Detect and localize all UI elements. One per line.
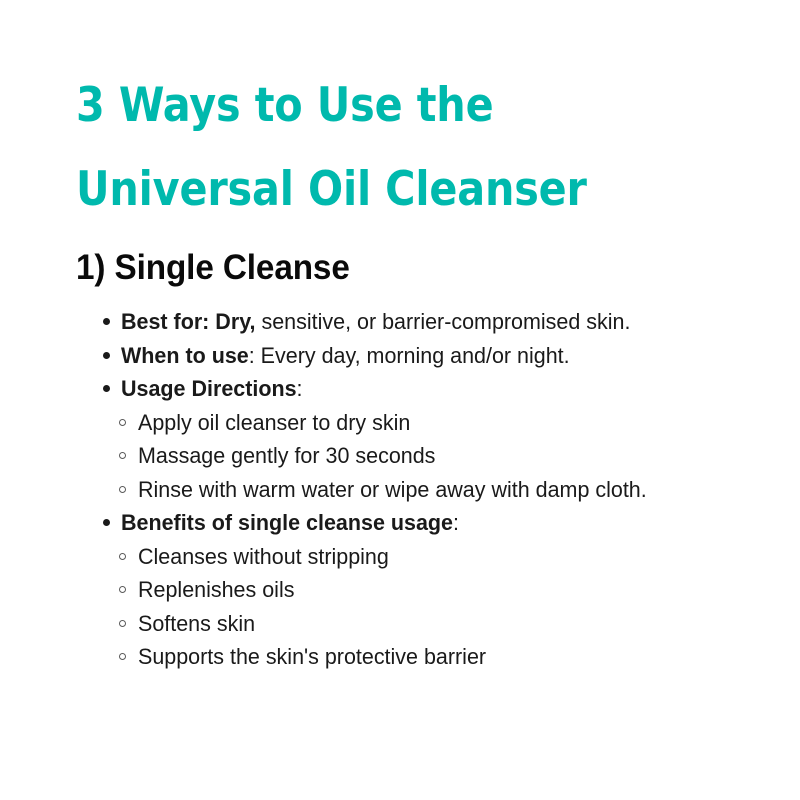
bullet-circle-icon: [119, 653, 126, 660]
list-item: When to use: Every day, morning and/or n…: [97, 339, 697, 373]
sub-list-item: Replenishes oils: [97, 573, 697, 607]
section-heading: 1) Single Cleanse: [76, 246, 350, 290]
list-item-lead: When to use: [121, 343, 249, 368]
sub-list-item-text: Supports the skin's protective barrier: [138, 640, 696, 674]
sub-list-item: Supports the skin's protective barrier: [97, 640, 697, 674]
sub-list: Apply oil cleanser to dry skinMassage ge…: [97, 406, 697, 507]
sub-list-item-text: Cleanses without stripping: [138, 540, 696, 574]
sub-list-item-text: Rinse with warm water or wipe away with …: [138, 473, 696, 507]
list-item-text: Best for: Dry, sensitive, or barrier-com…: [121, 305, 696, 339]
page-title: 3 Ways to Use the Universal Oil Cleanser: [76, 64, 736, 232]
list-item-text: Benefits of single cleanse usage:: [121, 506, 696, 540]
sub-list-item-text: Replenishes oils: [138, 573, 696, 607]
sub-list-item: Massage gently for 30 seconds: [97, 439, 697, 473]
list-item-lead: Usage Directions: [121, 376, 297, 401]
list-item-body: sensitive, or barrier-compromised skin.: [256, 309, 631, 334]
list-item-lead: Benefits of single cleanse usage: [121, 510, 453, 535]
sub-list-item-text: Apply oil cleanser to dry skin: [138, 406, 696, 440]
list-item: Best for: Dry, sensitive, or barrier-com…: [97, 305, 697, 339]
page-title-line-1: 3 Ways to Use the: [76, 64, 657, 148]
bullet-disc-icon: [103, 318, 110, 325]
bullet-disc-icon: [103, 519, 110, 526]
list-item: Usage Directions:: [97, 372, 697, 406]
bullet-circle-icon: [119, 452, 126, 459]
sub-list-item: Apply oil cleanser to dry skin: [97, 406, 697, 440]
sub-list-item: Rinse with warm water or wipe away with …: [97, 473, 697, 507]
sub-list-item: Cleanses without stripping: [97, 540, 697, 574]
sub-list-item-text: Softens skin: [138, 607, 696, 641]
sub-list-item: Softens skin: [97, 607, 697, 641]
list-item-text: Usage Directions:: [121, 372, 696, 406]
slide-canvas: 3 Ways to Use the Universal Oil Cleanser…: [0, 0, 800, 800]
list-item-body: : Every day, morning and/or night.: [249, 343, 570, 368]
bullet-circle-icon: [119, 620, 126, 627]
page-title-line-2: Universal Oil Cleanser: [76, 148, 657, 232]
list-item: Benefits of single cleanse usage:: [97, 506, 697, 540]
bullet-disc-icon: [103, 385, 110, 392]
bullet-circle-icon: [119, 486, 126, 493]
bullet-circle-icon: [119, 553, 126, 560]
content-bullet-list: Best for: Dry, sensitive, or barrier-com…: [97, 305, 697, 674]
sub-list-item-text: Massage gently for 30 seconds: [138, 439, 696, 473]
list-item-body: :: [453, 510, 459, 535]
bullet-circle-icon: [119, 419, 126, 426]
list-item-body: :: [297, 376, 303, 401]
list-item-text: When to use: Every day, morning and/or n…: [121, 339, 696, 373]
bullet-disc-icon: [103, 352, 110, 359]
bullet-circle-icon: [119, 586, 126, 593]
sub-list: Cleanses without strippingReplenishes oi…: [97, 540, 697, 674]
list-item-lead: Best for: Dry,: [121, 309, 256, 334]
